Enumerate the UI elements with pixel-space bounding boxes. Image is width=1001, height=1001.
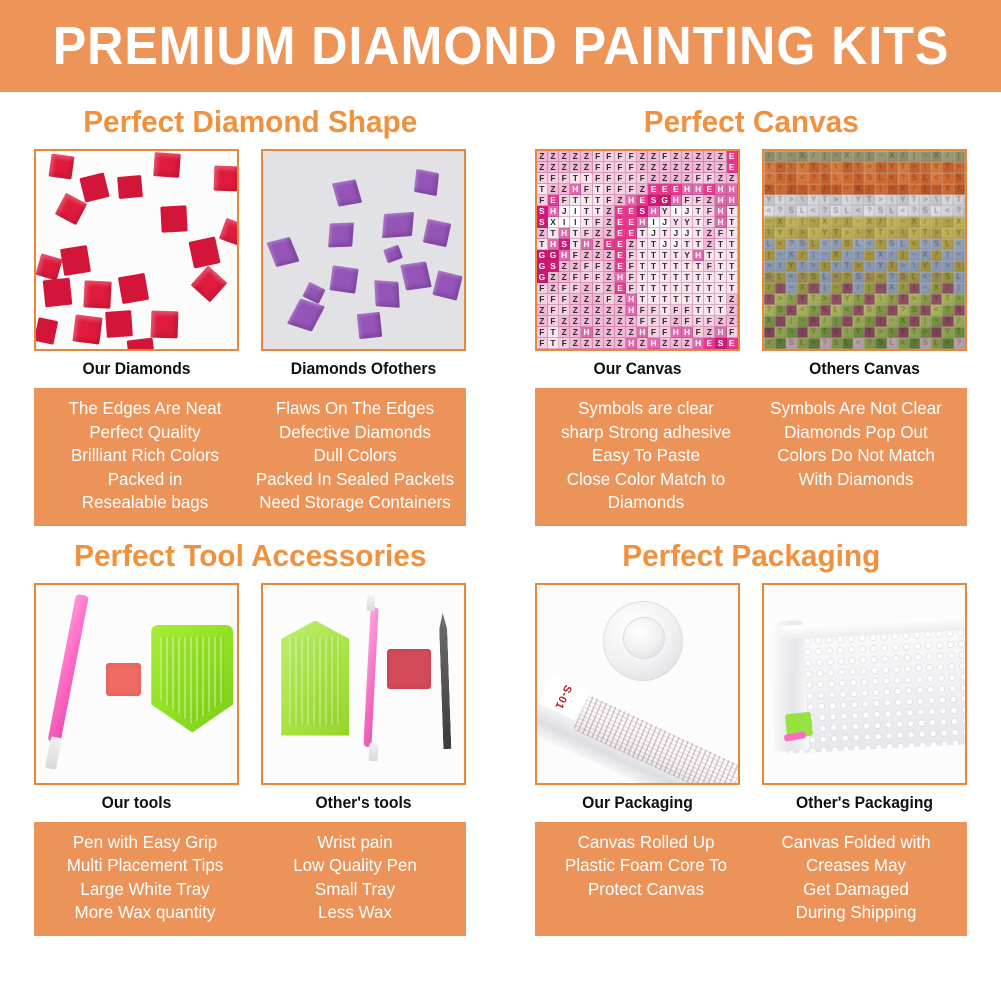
panel-line: The Edges Are Neat [43,397,247,421]
canvas-symbol-cell: T [648,283,659,294]
blurry-canvas-cell: / [764,151,775,162]
canvas-symbol-cell: F [648,305,659,316]
blurry-canvas-cell: L [920,173,931,184]
canvas-symbol-cell: T [537,184,548,195]
blurry-canvas-cell: \ [775,261,786,272]
panel-line: Diamonds [544,491,748,515]
canvas-symbol-cell: Z [660,162,671,173]
blurry-canvas-cell: > [875,195,886,206]
blurry-canvas-cell: X [931,151,942,162]
canvas-symbol-cell: S [537,217,548,228]
canvas-symbol-cell: F [593,283,604,294]
blurry-canvas-cell: ? [797,272,808,283]
blurry-canvas-cell: \ [931,327,942,338]
photo-other-tools [261,583,466,785]
blurry-canvas-cell: | [831,316,842,327]
canvas-symbol-cell: Z [682,338,693,349]
blurry-canvas-cell: \ [909,261,920,272]
canvas-symbol-cell: Z [593,305,604,316]
blurry-canvas-cell: | [909,283,920,294]
canvas-symbol-cell: H [693,338,704,349]
canvas-symbol-cell: Z [682,151,693,162]
canvas-symbol-cell: T [581,173,592,184]
blurry-canvas-cell: \ [942,228,953,239]
blurry-canvas-cell: S [864,305,875,316]
panel-line: Small Tray [253,878,457,902]
blurry-canvas-cell: T [898,162,909,173]
photo-other-diamonds [261,149,466,351]
cell-our-diamonds: Our Diamonds [34,149,239,379]
cell-other-diamonds: Diamonds Ofothers [261,149,466,379]
canvas-symbol-cell: T [715,250,726,261]
panel-ours-packaging: Canvas Rolled Up Plastic Foam Core To Pr… [544,831,748,925]
canvas-symbol-cell: F [559,195,570,206]
blurry-canvas-cell: Y [831,261,842,272]
canvas-symbol-cell: Z [648,173,659,184]
blurry-canvas-cell: X [797,151,808,162]
blurry-canvas-cell: Y [920,261,931,272]
canvas-symbol-cell: T [548,228,559,239]
blurry-canvas-cell: Y [820,228,831,239]
blurry-canvas-cell: \ [842,327,853,338]
canvas-symbol-cell: F [626,162,637,173]
blurry-canvas-cell: X [775,217,786,228]
drill-pen-icon [48,593,89,743]
canvas-symbol-cell: T [570,228,581,239]
canvas-symbol-cell: Z [604,206,615,217]
blurry-canvas-cell: \ [853,228,864,239]
canvas-symbol-cell: F [626,151,637,162]
canvas-symbol-cell: Z [682,173,693,184]
row-top: Perfect Diamond Shape [0,92,1001,526]
blurry-canvas-cell: | [954,283,965,294]
blurry-canvas-cell: ~ [797,184,808,195]
canvas-symbol-cell: J [682,228,693,239]
canvas-symbol-cell: E [637,195,648,206]
canvas-symbol-cell: T [682,261,693,272]
blurry-canvas-cell: / [864,316,875,327]
blurry-canvas-cell: | [920,184,931,195]
canvas-symbol-cell: E [615,261,626,272]
blurry-canvas-cell: < [887,173,898,184]
row-bottom: Perfect Tool Accessories Our tools [0,526,1001,936]
canvas-symbol-cell: Z [626,316,637,327]
canvas-symbol-cell: T [715,239,726,250]
canvas-symbol-cell: H [648,338,659,349]
canvas-symbol-cell: T [648,250,659,261]
blurry-canvas-cell: > [909,162,920,173]
canvas-symbol-cell: F [693,327,704,338]
blurry-canvas-cell: < [853,206,864,217]
blurry-canvas-cell: L [775,272,786,283]
canvas-symbol-cell: F [604,294,615,305]
canvas-symbol-cell: F [660,316,671,327]
canvas-symbol-cell: F [604,151,615,162]
blurry-canvas-cell: S [808,272,819,283]
canvas-symbol-cell: Y [682,250,693,261]
blurry-canvas-cell: S [920,338,931,349]
blurry-canvas-cell: L [864,272,875,283]
canvas-symbol-cell: Z [660,173,671,184]
blurry-canvas-cell: L [831,305,842,316]
canvas-symbol-cell: F [537,338,548,349]
canvas-symbol-cell: F [537,327,548,338]
blurry-canvas-cell: / [898,283,909,294]
blurry-canvas-cell: X [898,184,909,195]
canvas-symbol-cell: E [604,239,615,250]
canvas-symbol-cell: F [727,327,738,338]
panel-line: Packed In Sealed Packets [253,468,457,492]
thin-pen-base-icon [369,742,379,760]
canvas-symbol-cell: T [704,283,715,294]
blurry-canvas-cell: T [775,327,786,338]
blurry-canvas-cell: | [831,184,842,195]
blurry-canvas-cell: < [786,272,797,283]
canvas-symbol-cell: H [570,184,581,195]
blurry-canvas-cell: < [931,305,942,316]
blurry-canvas-cell: X [797,283,808,294]
canvas-symbol-cell: F [570,272,581,283]
canvas-symbol-cell: F [570,250,581,261]
canvas-symbol-cell: H [626,338,637,349]
canvas-symbol-cell: F [682,305,693,316]
blurry-canvas-cell: X [764,316,775,327]
panel-line: Less Wax [253,901,457,925]
blurry-canvas-cell: ? [820,338,831,349]
blurry-canvas-cell: < [954,239,965,250]
blurry-canvas-cell: | [875,184,886,195]
blurry-canvas-cell: / [786,217,797,228]
panel-row-packaging: Canvas Rolled Up Plastic Foam Core To Pr… [501,822,1001,936]
blurry-canvas-cell: Y [931,294,942,305]
panel-row-diamond-shape: The Edges Are Neat Perfect Quality Brill… [0,388,501,526]
blurry-canvas-cell: Y [797,162,808,173]
canvas-symbol-cell: Z [559,316,570,327]
canvas-symbol-cell: Z [559,272,570,283]
blurry-canvas-cell: ? [920,239,931,250]
blurry-canvas-cell: \ [842,195,853,206]
canvas-symbol-cell: Z [715,316,726,327]
blurry-canvas-cell: < [831,272,842,283]
canvas-symbol-cell: J [559,206,570,217]
canvas-symbol-cell: Z [593,316,604,327]
blurry-canvas-cell: L [898,239,909,250]
canvas-symbol-cell: E [626,217,637,228]
panel-ours-canvas: Symbols are clear sharp Strong adhesive … [544,397,748,515]
panel-line: Defective Diamonds [253,421,457,445]
canvas-symbol-cell: T [660,305,671,316]
canvas-symbol-cell: T [704,305,715,316]
canvas-symbol-cell: T [648,239,659,250]
blurry-canvas-cell: \ [931,195,942,206]
blurry-canvas-cell: S [875,338,886,349]
canvas-symbol-cell: Z [604,316,615,327]
canvas-symbol-cell: Z [581,283,592,294]
canvas-symbol-cell: F [548,173,559,184]
canvas-symbol-cell: Z [671,173,682,184]
canvas-symbol-cell: T [693,294,704,305]
canvas-symbol-cell: J [682,206,693,217]
canvas-symbol-cell: Z [671,162,682,173]
blurry-canvas-cell: X [954,217,965,228]
blurry-canvas-cell: / [909,184,920,195]
canvas-symbol-cell: Z [593,250,604,261]
canvas-symbol-cell: T [727,206,738,217]
blurry-canvas-cell: \ [820,261,831,272]
panel-line: Packed in [43,468,247,492]
page-title: PREMIUM DIAMOND PAINTING KITS [52,15,949,77]
canvas-symbol-cell: F [626,184,637,195]
canvas-symbol-cell: H [715,206,726,217]
canvas-symbol-cell: Z [637,184,648,195]
blurry-canvas-cell: L [764,239,775,250]
blurry-canvas-cell: < [942,206,953,217]
canvas-symbol-cell: T [682,294,693,305]
canvas-symbol-cell: F [548,316,559,327]
blurry-canvas-cell: Y [808,195,819,206]
canvas-symbol-cell: F [559,294,570,305]
pen-tip-icon [45,736,62,770]
blurry-canvas-cell: L [920,305,931,316]
blurry-canvas-cell: L [786,173,797,184]
canvas-symbol-cell: Z [615,195,626,206]
canvas-symbol-cell: Z [704,162,715,173]
panel-line: Protect Canvas [544,878,748,902]
canvas-symbol-cell: E [626,228,637,239]
canvas-symbol-cell: I [559,217,570,228]
photo-our-packaging: S-01 [535,583,740,785]
blurry-canvas-cell: \ [786,162,797,173]
canvas-symbol-cell: T [715,261,726,272]
blurry-canvas-cell: X [820,217,831,228]
canvas-symbol-cell: E [626,206,637,217]
panel-line: Colors Do Not Match [754,444,958,468]
canvas-symbol-cell: Z [581,305,592,316]
canvas-symbol-cell: F [593,162,604,173]
blurry-canvas-cell: > [920,195,931,206]
blurry-canvas-cell: S [786,338,797,349]
blurry-canvas-cell: Y [864,228,875,239]
blurry-canvas-cell: > [764,261,775,272]
blurry-canvas-cell: S [931,239,942,250]
canvas-symbol-cell: T [727,217,738,228]
canvas-symbol-cell: F [570,283,581,294]
canvas-symbol-cell: F [548,305,559,316]
blurry-canvas-cell: / [931,250,942,261]
panel-ours-diamond-shape: The Edges Are Neat Perfect Quality Brill… [43,397,247,515]
canvas-symbol-cell: Z [537,316,548,327]
canvas-symbol-cell: T [727,261,738,272]
blurry-canvas-cell: / [887,250,898,261]
blurry-canvas-cell: ? [842,272,853,283]
blurry-canvas-cell: S [764,272,775,283]
blurry-canvas-cell: X [864,217,875,228]
blurry-canvas-cell: ~ [842,184,853,195]
canvas-symbol-cell: T [704,250,715,261]
canvas-symbol-cell: F [559,338,570,349]
blurry-canvas-cell: ? [954,338,965,349]
photo-our-canvas: ZZZZZFFFFZZFZZZZZEZZZZZFFFFZZZZZZZZEFFFT… [535,149,740,351]
blurry-canvas-cell: L [808,239,819,250]
canvas-symbol-cell: F [637,305,648,316]
blurry-canvas-cell: / [954,316,965,327]
blurry-canvas-cell: ? [942,305,953,316]
canvas-symbol-cell: H [727,195,738,206]
blurry-canvas-cell: T [831,228,842,239]
canvas-symbol-cell: T [581,195,592,206]
canvas-symbol-cell: E [727,162,738,173]
canvas-symbol-cell: Z [727,316,738,327]
blurry-canvas-cell: L [797,206,808,217]
canvas-symbol-cell: T [693,283,704,294]
blurry-canvas-cell: > [898,261,909,272]
canvas-symbol-cell: Z [559,184,570,195]
canvas-symbol-cell: Z [671,338,682,349]
photo-other-canvas: /|~X/|~X/|~X/|~X/|T>\YT>\YT>\YT>\YT>?SL<… [762,149,967,351]
blurry-canvas-cell: | [775,283,786,294]
canvas-symbol-cell: T [682,272,693,283]
canvas-symbol-cell: H [727,184,738,195]
blurry-canvas-cell: > [797,228,808,239]
blurry-canvas-cell: | [820,283,831,294]
canvas-symbol-cell: F [660,327,671,338]
canvas-symbol-cell: I [570,206,581,217]
canvas-symbol-cell: Z [593,228,604,239]
canvas-symbol-cell: Z [581,316,592,327]
canvas-symbol-cell: E [727,151,738,162]
canvas-symbol-cell: H [682,184,693,195]
panel-line: Low Quality Pen [253,854,457,878]
canvas-symbol-cell: T [637,250,648,261]
canvas-symbol-cell: Z [581,151,592,162]
blurry-canvas-cell: \ [831,162,842,173]
canvas-symbol-cell: H [715,195,726,206]
blurry-canvas-cell: | [954,151,965,162]
blurry-canvas-cell: L [842,338,853,349]
panel-line: Canvas Rolled Up [544,831,748,855]
canvas-symbol-cell: Z [615,316,626,327]
blurry-canvas-cell: | [898,250,909,261]
blurry-canvas-cell: S [909,173,920,184]
cell-our-packaging: S-01 Our Packaging [535,583,740,813]
blurry-canvas-cell: / [764,283,775,294]
canvas-symbol-cell: Z [704,195,715,206]
wax-square-icon [387,649,431,689]
canvas-symbol-cell: H [693,184,704,195]
blurry-canvas-cell: T [920,228,931,239]
blurry-canvas-cell: T [808,294,819,305]
canvas-symbol-cell: Z [537,228,548,239]
canvas-symbol-cell: Y [660,206,671,217]
canvas-symbol-cell: T [637,272,648,283]
blurry-canvas-cell: | [797,217,808,228]
blurry-canvas-cell: L [875,305,886,316]
blurry-canvas-cell: > [954,162,965,173]
blurry-canvas-cell: > [831,327,842,338]
blurry-canvas-cell: > [786,327,797,338]
blurry-canvas-cell: S [831,338,842,349]
canvas-symbol-cell: T [593,184,604,195]
canvas-symbol-cell: T [660,228,671,239]
canvas-symbol-cell: J [648,228,659,239]
canvas-symbol-cell: H [637,217,648,228]
blurry-canvas-cell: | [875,316,886,327]
section-tools: Perfect Tool Accessories Our tools [0,526,501,936]
our-tools-art [36,585,237,783]
blurry-canvas-cell: < [842,305,853,316]
canvas-symbol-cell: Z [637,151,648,162]
canvas-symbol-cell: Z [648,162,659,173]
blurry-canvas-cell: X [942,184,953,195]
blurry-canvas-cell: ~ [853,217,864,228]
blurry-canvas-cell: ? [808,173,819,184]
canvas-symbol-cell: S [548,261,559,272]
blurry-canvas-cell: ? [898,173,909,184]
panel-line: Plastic Foam Core To [544,854,748,878]
blurry-canvas-cell: ~ [920,283,931,294]
canvas-symbol-cell: S [559,239,570,250]
canvas-symbol-cell: T [682,283,693,294]
blurry-canvas-cell: L [931,206,942,217]
blurry-canvas-cell: T [797,261,808,272]
blurry-canvas-cell: ~ [898,217,909,228]
canvas-symbol-cell: Z [604,250,615,261]
canvas-symbol-cell: Z [548,272,559,283]
blurry-canvas-cell: > [775,162,786,173]
canvas-symbol-cell: T [660,250,671,261]
blurry-canvas-cell: / [831,217,842,228]
blurry-canvas-cell: \ [920,162,931,173]
canvas-symbol-cell: F [693,195,704,206]
photo-our-tools [34,583,239,785]
blurry-canvas-cell: ~ [808,217,819,228]
canvas-symbol-cell: T [593,195,604,206]
blurry-canvas-cell: \ [887,195,898,206]
canvas-symbol-cell: J [671,228,682,239]
blurry-canvas-cell: X [920,250,931,261]
blurry-canvas-cell: X [942,316,953,327]
caption-other-canvas: Others Canvas [767,351,962,379]
blurry-canvas-cell: S [954,305,965,316]
blurry-canvas-cell: L [875,173,886,184]
canvas-symbol-cell: Z [548,162,559,173]
canvas-symbol-cell: F [537,195,548,206]
infographic-page: PREMIUM DIAMOND PAINTING KITS Perfect Di… [0,0,1001,1001]
section-title-packaging: Perfect Packaging [511,526,991,583]
blurry-canvas-cell: ~ [786,283,797,294]
panel-line: Brilliant Rich Colors [43,444,247,468]
canvas-symbol-cell: T [715,294,726,305]
canvas-symbol-cell: I [648,217,659,228]
canvas-symbol-cell: F [604,162,615,173]
blurry-canvas-cell: > [942,261,953,272]
blurry-canvas-cell: X [842,283,853,294]
blurry-canvas-cell: < [842,173,853,184]
blurry-canvas-cell: < [942,338,953,349]
blurry-canvas-cell: < [764,338,775,349]
blurry-canvas-cell: Y [775,228,786,239]
canvas-symbol-cell: T [581,206,592,217]
blurry-canvas-cell: / [775,184,786,195]
blurry-canvas-cell: | [775,151,786,162]
blurry-canvas-cell: X [842,151,853,162]
blurry-canvas-cell: X [831,250,842,261]
blurry-canvas-cell: L [786,305,797,316]
blurry-canvas-cell: S [797,239,808,250]
blurry-canvas-cell: T [820,195,831,206]
panel-line: Dull Colors [253,444,457,468]
canvas-symbol-cell: Z [626,239,637,250]
